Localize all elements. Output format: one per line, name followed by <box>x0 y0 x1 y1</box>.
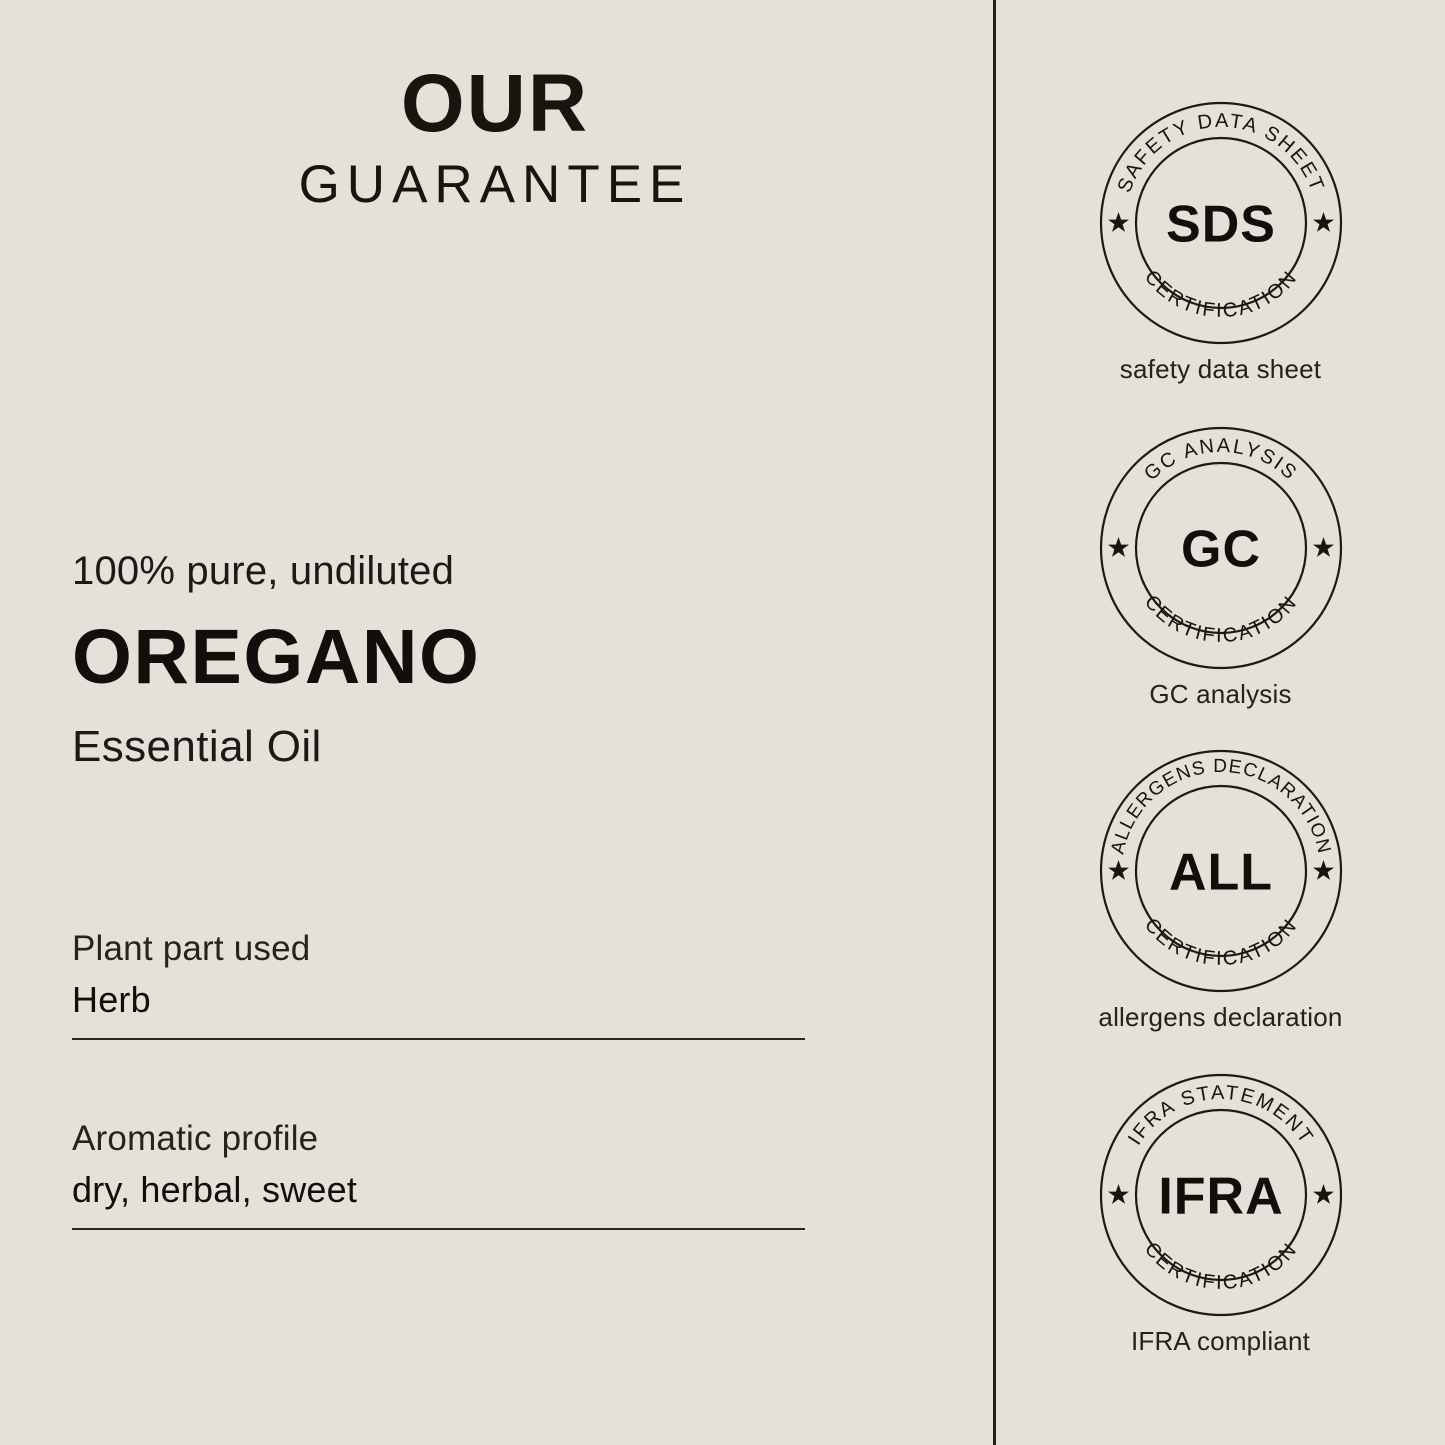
seal-star-left-icon <box>1108 212 1129 232</box>
seal-star-left-icon <box>1108 860 1129 880</box>
seal-bottom-text: CERTIFICATION <box>1139 591 1301 647</box>
badge-caption: GC analysis <box>996 679 1445 710</box>
seal-bottom-text: CERTIFICATION <box>1139 266 1301 322</box>
certification-badge-column: SAFETY DATA SHEET CERTIFICATION SDS safe… <box>996 0 1445 1445</box>
certification-badge-allergens: ALLERGENS DECLARATION CERTIFICATION ALL … <box>996 748 1445 1033</box>
seal-center-text: IFRA <box>1158 1168 1283 1226</box>
seal-center-text: SDS <box>1166 196 1276 254</box>
seal-star-right-icon <box>1313 1184 1334 1204</box>
certification-badge-gc: GC ANALYSIS CERTIFICATION GC GC analysis <box>996 425 1445 710</box>
seal-top-text: IFRA STATEMENT <box>1123 1082 1317 1149</box>
certification-badge-sds: SAFETY DATA SHEET CERTIFICATION SDS safe… <box>996 100 1445 385</box>
seal-icon-gc: GC ANALYSIS CERTIFICATION GC <box>1098 425 1344 671</box>
seal-star-right-icon <box>1313 860 1334 880</box>
badge-caption: safety data sheet <box>996 354 1445 385</box>
seal-star-left-icon <box>1108 537 1129 557</box>
badge-caption: allergens declaration <box>996 1002 1445 1033</box>
page-title-line-2: GUARANTEE <box>0 156 990 214</box>
seal-center-text: ALL <box>1168 844 1272 902</box>
product-tagline: 100% pure, undiluted <box>72 548 872 594</box>
detail-value: dry, herbal, sweet <box>72 1169 805 1211</box>
detail-label: Plant part used <box>72 928 805 969</box>
detail-value: Herb <box>72 979 805 1021</box>
certification-badge-ifra: IFRA STATEMENT CERTIFICATION IFRA IFRA c… <box>996 1072 1445 1357</box>
seal-star-left-icon <box>1108 1184 1129 1204</box>
badge-caption: IFRA compliant <box>996 1326 1445 1357</box>
detail-row-plant-part-used: Plant part used Herb <box>72 928 805 1040</box>
seal-bottom-text: CERTIFICATION <box>1139 914 1301 970</box>
left-panel: OUR GUARANTEE 100% pure, undiluted OREGA… <box>0 0 993 1445</box>
product-detail-list: Plant part used Herb Aromatic profile dr… <box>72 928 805 1230</box>
seal-star-right-icon <box>1313 537 1334 557</box>
seal-icon-all: ALLERGENS DECLARATION CERTIFICATION ALL <box>1098 748 1344 994</box>
seal-icon-ifra: IFRA STATEMENT CERTIFICATION IFRA <box>1098 1072 1344 1318</box>
product-name: OREGANO <box>72 614 872 700</box>
page-title: OUR GUARANTEE <box>0 62 990 214</box>
seal-center-text: GC <box>1181 521 1261 579</box>
seal-icon-sds: SAFETY DATA SHEET CERTIFICATION SDS <box>1098 100 1344 346</box>
infographic-page: OUR GUARANTEE 100% pure, undiluted OREGA… <box>0 0 1445 1445</box>
page-title-line-1: OUR <box>0 62 990 146</box>
product-type: Essential Oil <box>72 722 872 773</box>
detail-label: Aromatic profile <box>72 1118 805 1159</box>
seal-star-right-icon <box>1313 212 1334 232</box>
seal-bottom-text: CERTIFICATION <box>1139 1238 1301 1294</box>
detail-row-aromatic-profile: Aromatic profile dry, herbal, sweet <box>72 1118 805 1230</box>
product-identity: 100% pure, undiluted OREGANO Essential O… <box>72 548 872 773</box>
